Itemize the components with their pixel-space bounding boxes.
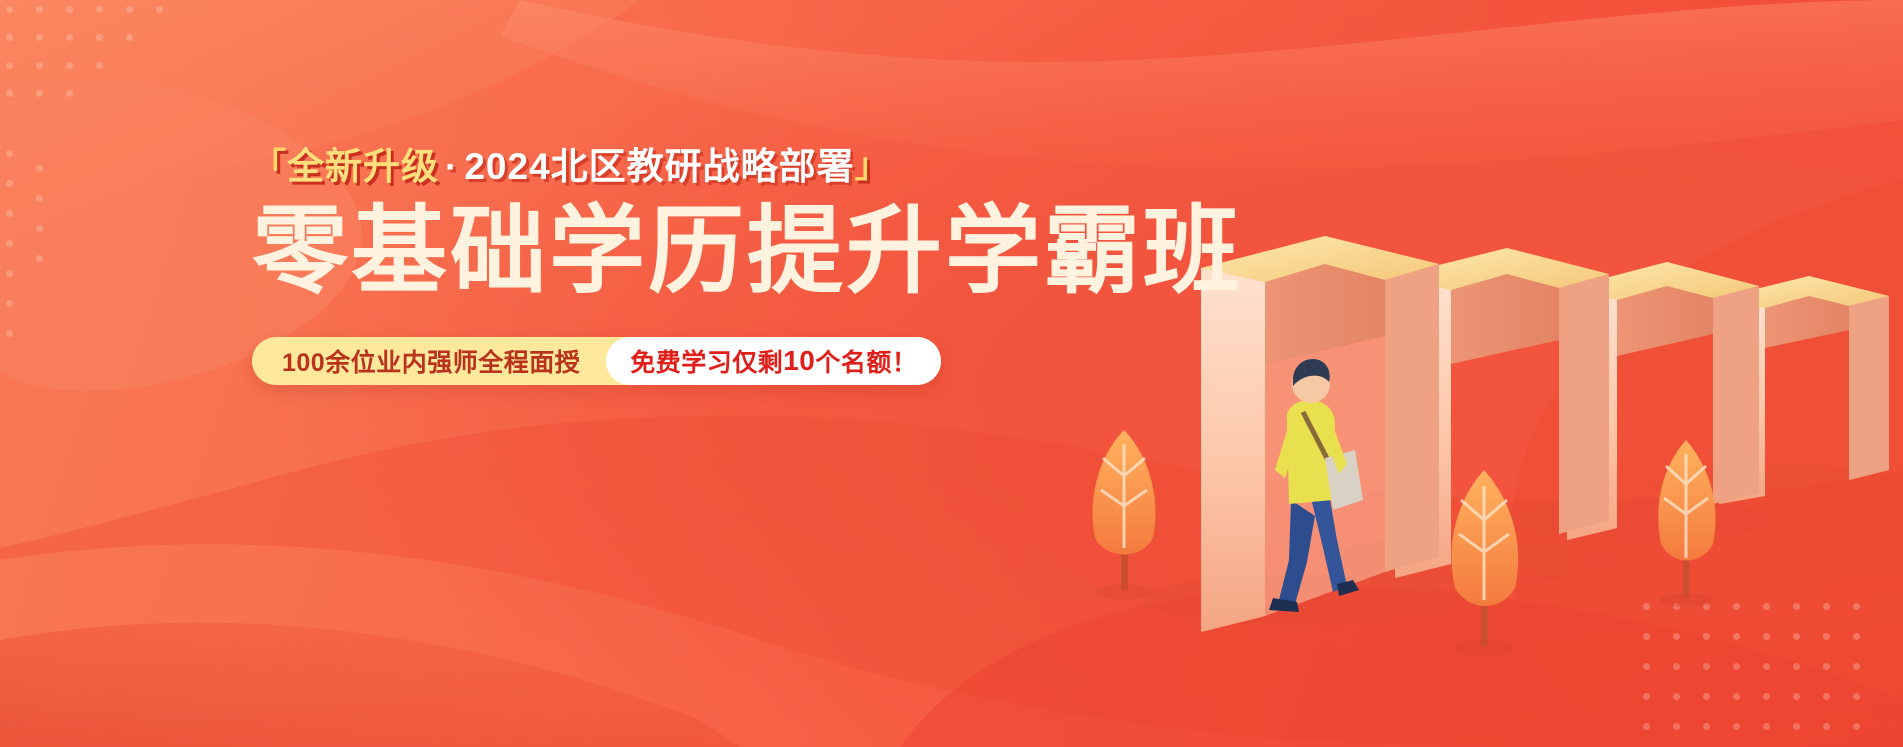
badge-quota-number: 10: [783, 345, 815, 377]
dot-grid-left-edge: [0, 150, 70, 450]
banner-title: 零基础学历提升学霸班: [252, 201, 1012, 303]
banner-badges: 100余位业内强师全程面授 免费学习仅剩10个名额！: [252, 337, 1012, 385]
campus-illustration: [1003, 0, 1903, 747]
subtitle-highlight: 全新升级: [287, 146, 439, 187]
badge-quota-prefix: 免费学习仅剩: [630, 343, 783, 379]
banner-text-block: 「全新升级·2024北区教研战略部署」 零基础学历提升学霸班 100余位业内强师…: [252, 146, 1012, 385]
promo-banner: 「全新升级·2024北区教研战略部署」 零基础学历提升学霸班 100余位业内强师…: [0, 0, 1903, 747]
dot-grid-top-left: [0, 0, 190, 110]
badge-pill-group: 100余位业内强师全程面授 免费学习仅剩10个名额！: [252, 337, 941, 385]
badge-teachers: 100余位业内强师全程面授: [252, 337, 606, 385]
bracket-close-icon: 」: [855, 147, 890, 185]
badge-quota: 免费学习仅剩10个名额！: [606, 337, 941, 385]
subtitle-separator: ·: [439, 146, 464, 187]
banner-subtitle: 「全新升级·2024北区教研战略部署」: [252, 146, 1012, 187]
tree-middle: [1452, 470, 1519, 656]
badge-quota-suffix: 个名额！: [815, 343, 917, 379]
tree-left: [1093, 386, 1156, 599]
subtitle-rest: 2024北区教研战略部署: [464, 146, 854, 187]
bracket-open-icon: 「: [252, 147, 287, 185]
tree-right: [1658, 440, 1715, 607]
